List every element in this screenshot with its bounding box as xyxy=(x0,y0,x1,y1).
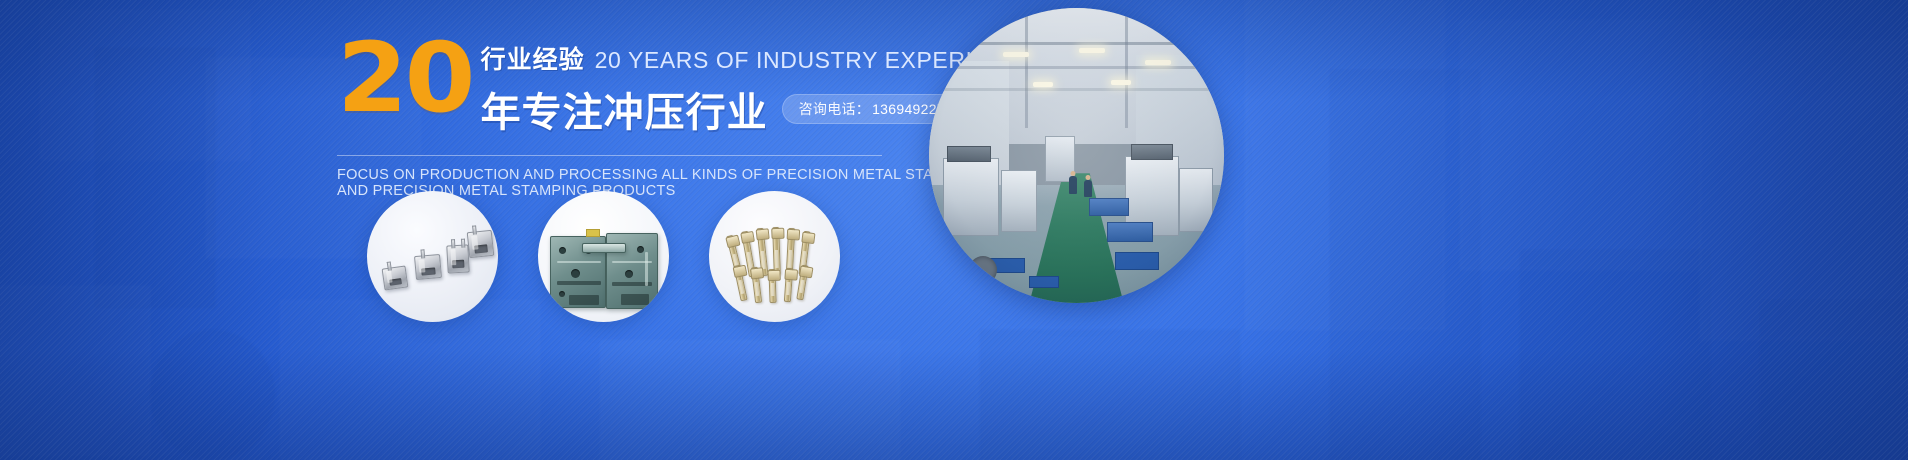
tagline-cn-small: 行业经验 xyxy=(481,40,585,76)
divider xyxy=(337,155,882,156)
product-photo-mold xyxy=(538,191,669,322)
factory-photo xyxy=(929,8,1224,303)
phone-label: 咨询电话： xyxy=(799,99,871,119)
product-photo-pins xyxy=(709,191,840,322)
years-number: 20 xyxy=(337,38,472,119)
banner-copy: 20 行业经验 20 YEARS OF INDUSTRY EXPERIENCE … xyxy=(337,36,897,199)
product-photo-connectors xyxy=(367,191,498,322)
subcopy-line-1: FOCUS ON PRODUCTION AND PROCESSING ALL K… xyxy=(337,167,897,183)
headline-row: 20 行业经验 20 YEARS OF INDUSTRY EXPERIENCE … xyxy=(337,36,897,138)
promo-banner: 20 行业经验 20 YEARS OF INDUSTRY EXPERIENCE … xyxy=(0,0,1908,460)
tagline-cn-large: 年专注冲压行业 xyxy=(481,80,768,138)
